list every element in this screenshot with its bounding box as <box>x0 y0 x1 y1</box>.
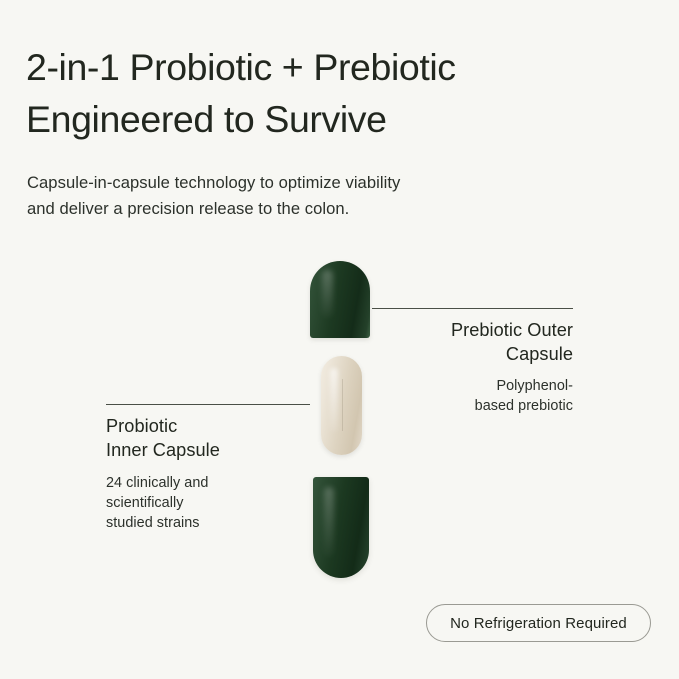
page-title: 2-in-1 Probiotic + Prebiotic Engineered … <box>26 41 616 145</box>
leader-line-probiotic-inner-capsule <box>106 404 310 405</box>
leader-line-prebiotic-outer-capsule <box>372 308 573 309</box>
callout-title: Prebiotic Outer Capsule <box>333 318 573 366</box>
callout-subtitle: Polyphenol- based prebiotic <box>333 376 573 416</box>
page-subtitle: Capsule-in-capsule technology to optimiz… <box>27 170 547 221</box>
callout-probiotic-inner-capsule: Probiotic Inner Capsule 24 clinically an… <box>106 414 336 533</box>
status-badge: No Refrigeration Required <box>426 604 651 642</box>
status-badge-label: No Refrigeration Required <box>450 615 627 632</box>
callout-title: Probiotic Inner Capsule <box>106 414 336 462</box>
callout-subtitle: 24 clinically and scientifically studied… <box>106 473 336 533</box>
infographic-canvas: 2-in-1 Probiotic + Prebiotic Engineered … <box>0 0 679 679</box>
callout-prebiotic-outer-capsule: Prebiotic Outer Capsule Polyphenol- base… <box>333 318 573 416</box>
